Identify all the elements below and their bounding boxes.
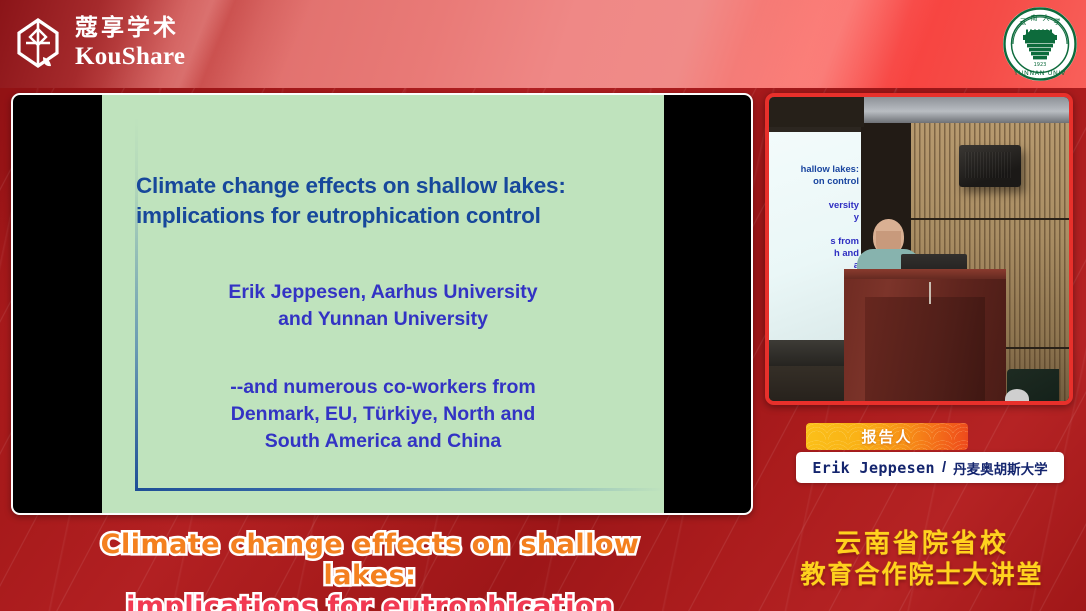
wall-seam-upper	[909, 218, 1069, 220]
broadcast-title-line-1: Climate change effects on shallow lakes:…	[70, 530, 670, 592]
podium-top-surface	[844, 269, 1006, 279]
podium-microphone-icon	[929, 282, 931, 304]
slide-coworkers-line-3: South America and China	[118, 428, 648, 455]
dark-wall-panel-top	[769, 97, 864, 127]
presentation-slide-panel[interactable]: Climate change effects on shallow lakes:…	[11, 93, 753, 515]
svg-text:云: 云	[1020, 18, 1027, 26]
brand-name-cn: 蔻享学术	[75, 17, 185, 40]
broadcast-title-en: Climate change effects on shallow lakes:…	[70, 530, 670, 611]
koushare-diamond-icon	[12, 17, 64, 69]
brand-text: 蔻享学术 KouShare	[75, 17, 185, 69]
broadcast-title-line-1-text: Climate change effects on shallow lakes:	[101, 529, 640, 591]
screen-stage: 蔻享学术 KouShare 云南	[0, 0, 1086, 611]
broadcast-title-cn: 云南省院省校 教育合作院士大讲堂	[766, 529, 1078, 589]
speaker-name-separator: /	[942, 459, 946, 476]
slide-title: Climate change effects on shallow lakes:…	[118, 171, 648, 231]
slide-coworkers: --and numerous co-workers from Denmark, …	[118, 374, 648, 455]
svg-text:大: 大	[1043, 13, 1050, 22]
speaker-video-panel[interactable]: hallow lakes: on control versity y s fro…	[765, 93, 1073, 405]
lecture-hall-scene: hallow lakes: on control versity y s fro…	[769, 97, 1069, 401]
brand-logo[interactable]: 蔻享学术 KouShare	[12, 6, 185, 80]
slide-author-line-2: and Yunnan University	[118, 306, 648, 333]
speaker-affiliation: 丹麦奥胡斯大学	[953, 458, 1048, 478]
svg-text:YUNNAN UNIV: YUNNAN UNIV	[1013, 69, 1066, 77]
slide-author-line-1: Erik Jeppesen, Aarhus University	[118, 279, 648, 306]
svg-text:南: 南	[1031, 13, 1038, 22]
svg-text:学: 学	[1054, 17, 1061, 26]
speaker-name: Erik Jeppesen	[812, 459, 935, 477]
yunnan-university-seal-icon: 云南 大学 1923 YUNNAN UNIV	[1001, 5, 1079, 83]
slide-coworkers-line-1: --and numerous co-workers from	[118, 374, 648, 401]
brand-name-en: KouShare	[75, 44, 185, 69]
broadcast-title-cn-line-2: 教育合作院士大讲堂	[766, 560, 1078, 590]
slide-text-block: Climate change effects on shallow lakes:…	[102, 95, 664, 513]
speaker-role-label: 报告人	[806, 423, 968, 450]
wall-speaker-icon	[959, 145, 1021, 187]
slide-title-line-1: Climate change effects on shallow lakes:	[136, 171, 648, 201]
slide-content-area: Climate change effects on shallow lakes:…	[102, 95, 664, 513]
slide-coworkers-line-2: Denmark, EU, Türkiye, North and	[118, 401, 648, 428]
header-bar: 蔻享学术 KouShare 云南	[0, 0, 1086, 88]
broadcast-title-line-2-text: implications for eutrophication control	[126, 591, 614, 611]
slide-title-line-2: implications for eutrophication control	[136, 201, 648, 231]
speaker-name-plate: Erik Jeppesen / 丹麦奥胡斯大学	[796, 452, 1064, 483]
podium-front-face	[865, 297, 985, 401]
broadcast-title-cn-line-1: 云南省院省校	[766, 529, 1078, 560]
slide-author: Erik Jeppesen, Aarhus University and Yun…	[118, 279, 648, 332]
svg-text:1923: 1923	[1034, 62, 1047, 68]
speaker-role-badge: 报告人	[806, 423, 968, 450]
broadcast-title-line-2: implications for eutrophication control …	[70, 592, 670, 611]
